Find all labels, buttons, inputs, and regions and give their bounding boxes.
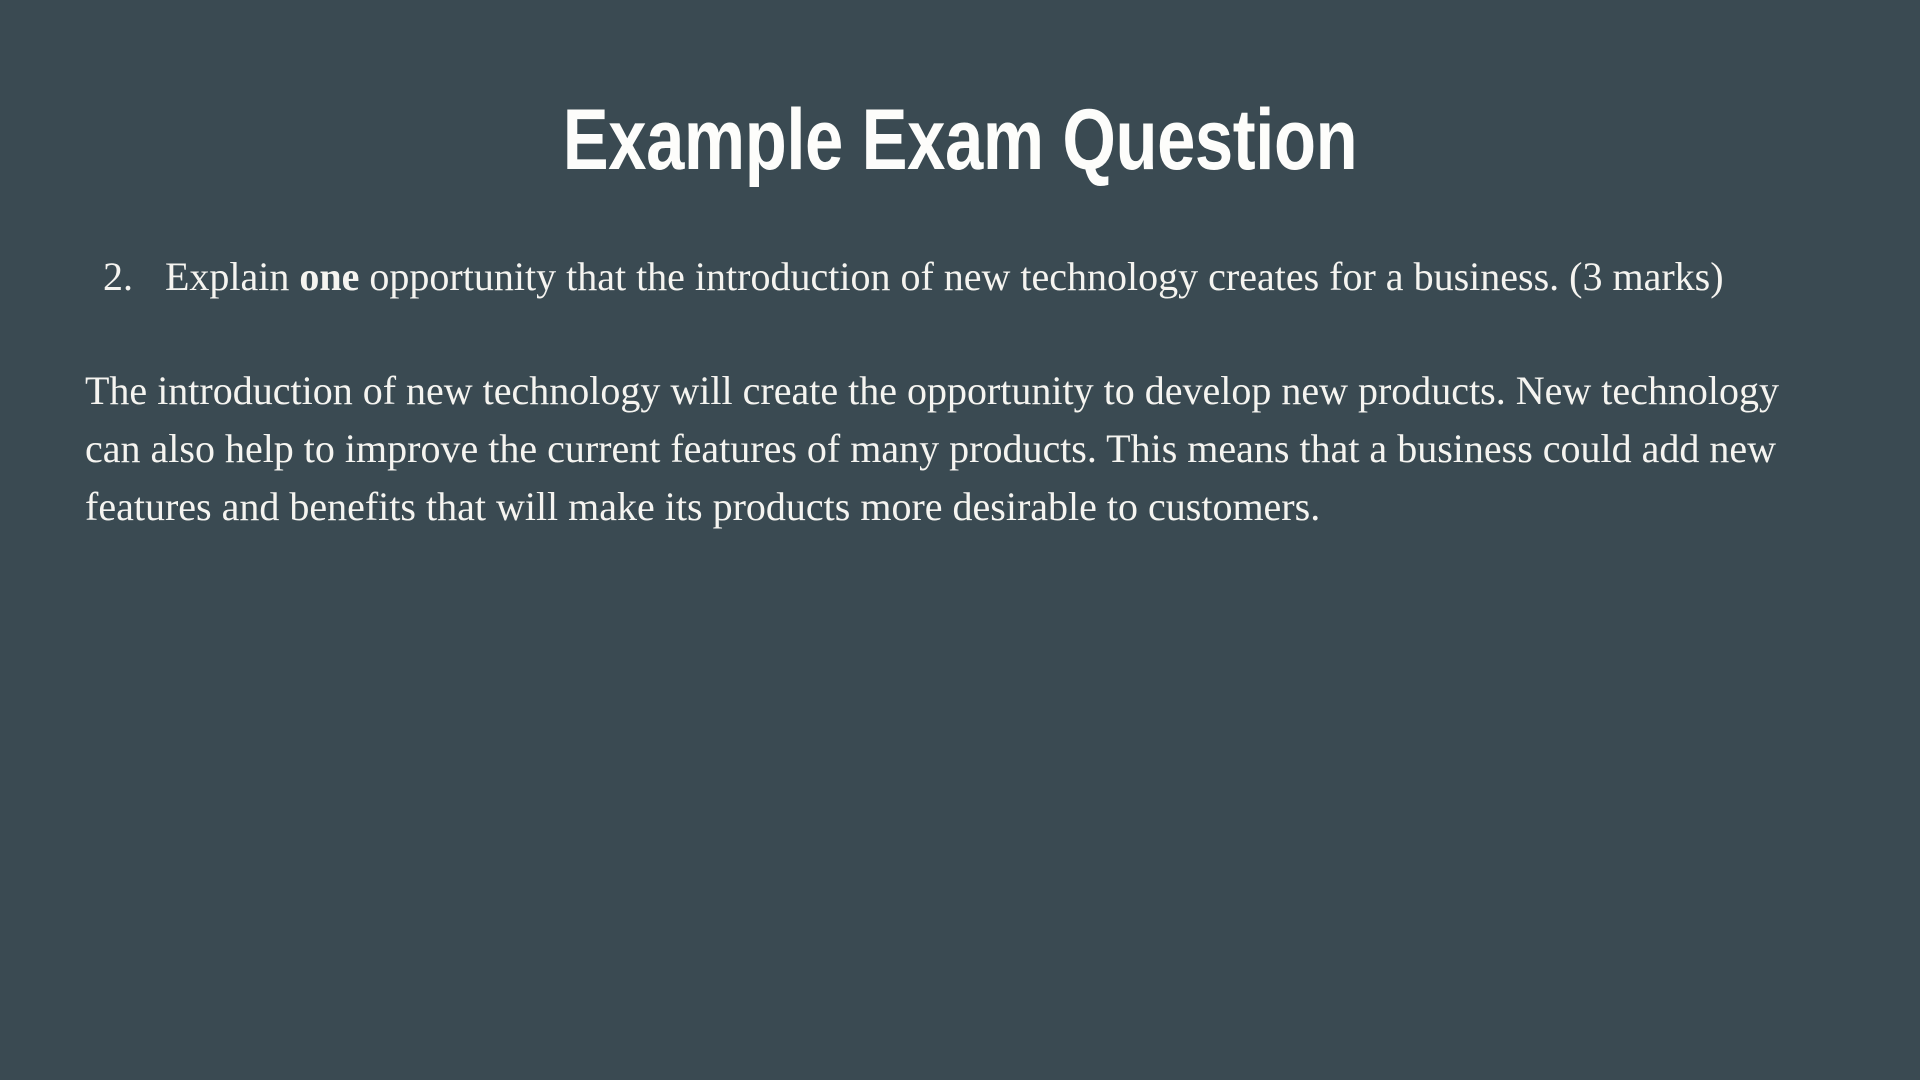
question-text-before-bold: Explain: [165, 254, 299, 299]
list-marker-number: 2.: [103, 248, 165, 306]
slide-body: 2.Explain one opportunity that the intro…: [85, 248, 1845, 536]
exam-question-item: 2.Explain one opportunity that the intro…: [85, 248, 1845, 306]
paragraph-spacer: [85, 306, 1845, 362]
model-answer-paragraph: The introduction of new technology will …: [85, 362, 1790, 536]
question-bold-keyword: one: [299, 254, 359, 299]
question-text-after-bold: opportunity that the introduction of new…: [359, 254, 1723, 299]
slide-canvas: Example Exam Question 2.Explain one oppo…: [0, 0, 1920, 1080]
page-title: Example Exam Question: [192, 92, 1728, 188]
